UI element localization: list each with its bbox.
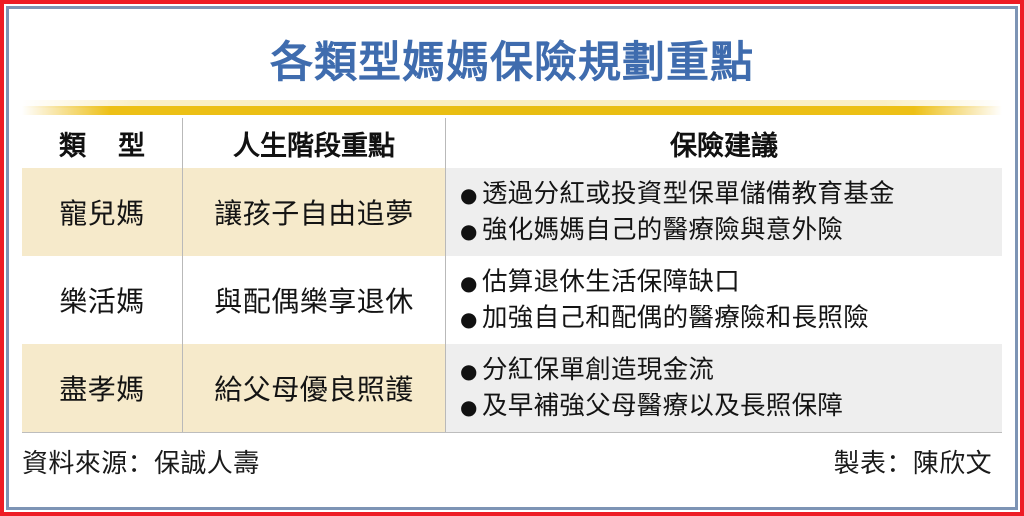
column-header-stage: 人生階段重點 <box>182 118 445 168</box>
list-item: ● 及早補強父母醫療以及長照保障 <box>460 388 1002 424</box>
list-item: ● 透過分紅或投資型保單儲備教育基金 <box>460 176 1002 212</box>
list-item-text: 及早補強父母醫療以及長照保障 <box>482 388 843 424</box>
infographic-page: 各類型媽媽保險規劃重點 類 型 人生階段重點 保險建議 寵兒媽 <box>0 0 1024 516</box>
row-stage-label: 給父母優良照護 <box>214 368 414 408</box>
footer: 資料來源：保誠人壽 製表：陳欣文 <box>22 438 1002 484</box>
row-advice-cell: ● 透過分紅或投資型保單儲備教育基金 ● 強化媽媽自己的醫療險與意外險 <box>445 168 1002 256</box>
bullet-icon: ● <box>460 361 482 381</box>
table-header-row: 類 型 人生階段重點 保險建議 <box>22 118 1002 168</box>
row-stage-cell: 給父母優良照護 <box>182 344 445 432</box>
page-title: 各類型媽媽保險規劃重點 <box>10 32 1014 94</box>
column-header-stage-label: 人生階段重點 <box>233 124 395 163</box>
row-stage-label: 讓孩子自由追夢 <box>214 192 414 232</box>
bullet-icon: ● <box>460 221 482 241</box>
credit-note: 製表：陳欣文 <box>834 443 1002 480</box>
table-row: 樂活媽 與配偶樂享退休 ● 估算退休生活保障缺口 ● 加強自己和配偶的醫療險和長… <box>22 256 1002 344</box>
row-type-label: 寵兒媽 <box>59 192 145 232</box>
column-header-advice-label: 保險建議 <box>670 124 778 163</box>
comparison-table: 類 型 人生階段重點 保險建議 寵兒媽 讓孩子自由追夢 <box>22 118 1002 432</box>
list-item: ● 分紅保單創造現金流 <box>460 352 1002 388</box>
content-sheet: 各類型媽媽保險規劃重點 類 型 人生階段重點 保險建議 寵兒媽 <box>10 10 1014 506</box>
list-item-text: 估算退休生活保障缺口 <box>482 264 740 300</box>
bullet-icon: ● <box>460 309 482 329</box>
column-header-advice: 保險建議 <box>445 118 1002 168</box>
row-type-cell: 寵兒媽 <box>22 168 182 256</box>
list-item-text: 加強自己和配偶的醫療險和長照險 <box>482 300 869 336</box>
table-row: 寵兒媽 讓孩子自由追夢 ● 透過分紅或投資型保單儲備教育基金 ● 強化媽媽自己的… <box>22 168 1002 256</box>
row-advice-cell: ● 分紅保單創造現金流 ● 及早補強父母醫療以及長照保障 <box>445 344 1002 432</box>
row-type-cell: 樂活媽 <box>22 256 182 344</box>
advice-list: ● 透過分紅或投資型保單儲備教育基金 ● 強化媽媽自己的醫療險與意外險 <box>446 176 1002 248</box>
list-item: ● 估算退休生活保障缺口 <box>460 264 1002 300</box>
gold-divider <box>22 106 1002 115</box>
list-item-text: 分紅保單創造現金流 <box>482 352 714 388</box>
table-bottom-divider <box>22 432 1002 433</box>
row-advice-cell: ● 估算退休生活保障缺口 ● 加強自己和配偶的醫療險和長照險 <box>445 256 1002 344</box>
row-type-label: 盡孝媽 <box>59 368 145 408</box>
row-type-cell: 盡孝媽 <box>22 344 182 432</box>
bullet-icon: ● <box>460 397 482 417</box>
list-item: ● 強化媽媽自己的醫療險與意外險 <box>460 212 1002 248</box>
row-stage-cell: 與配偶樂享退休 <box>182 256 445 344</box>
list-item-text: 強化媽媽自己的醫療險與意外險 <box>482 212 843 248</box>
bullet-icon: ● <box>460 273 482 293</box>
row-type-label: 樂活媽 <box>59 280 145 320</box>
list-item-text: 透過分紅或投資型保單儲備教育基金 <box>482 176 895 212</box>
list-item: ● 加強自己和配偶的醫療險和長照險 <box>460 300 1002 336</box>
column-header-type: 類 型 <box>22 118 182 168</box>
row-stage-label: 與配偶樂享退休 <box>214 280 414 320</box>
column-header-type-label: 類 型 <box>48 124 157 163</box>
bullet-icon: ● <box>460 185 482 205</box>
table-row: 盡孝媽 給父母優良照護 ● 分紅保單創造現金流 ● 及早補強父母醫療以及長照保障 <box>22 344 1002 432</box>
advice-list: ● 估算退休生活保障缺口 ● 加強自己和配偶的醫療險和長照險 <box>446 264 1002 336</box>
row-stage-cell: 讓孩子自由追夢 <box>182 168 445 256</box>
source-note: 資料來源：保誠人壽 <box>22 443 260 480</box>
advice-list: ● 分紅保單創造現金流 ● 及早補強父母醫療以及長照保障 <box>446 352 1002 424</box>
